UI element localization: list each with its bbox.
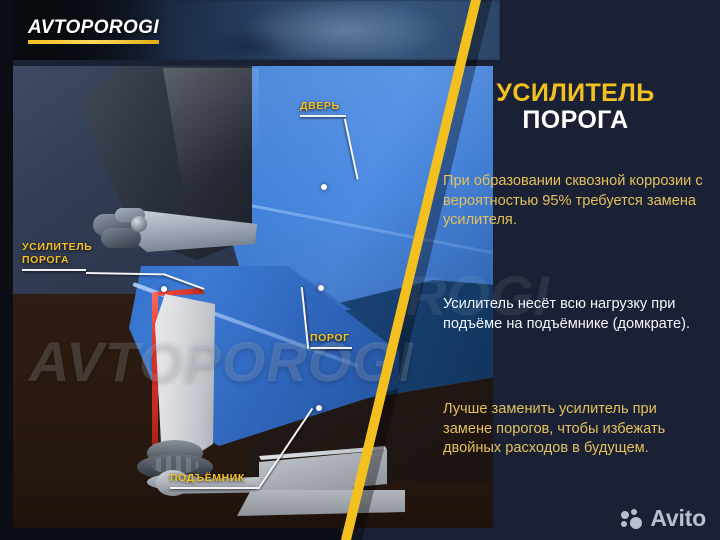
avito-dot-2 xyxy=(631,509,637,515)
panel-paragraph-3: Лучше заменить усилитель при замене поро… xyxy=(443,400,705,459)
frame-left-edge xyxy=(0,0,13,540)
callout-lift-underline xyxy=(170,487,258,489)
brand-logo-text: AVTOPOROGI xyxy=(28,18,159,37)
callout-sill: ПОРОГ xyxy=(310,332,352,349)
callout-sill-label: ПОРОГ xyxy=(310,332,352,344)
hinge-pin xyxy=(131,216,147,232)
callout-reinforcer-label-1: УСИЛИТЕЛЬ xyxy=(22,241,92,253)
brand-logo-underline xyxy=(28,40,159,44)
callout-reinforcer-label-2: ПОРОГА xyxy=(22,254,92,266)
frame-bottom-edge xyxy=(0,528,341,540)
reinforcer-panel xyxy=(155,294,215,462)
callout-door-label: ДВЕРЬ xyxy=(300,100,346,112)
callout-reinforcer-point xyxy=(161,286,167,292)
callout-lift-label: ПОДЪЁМНИК xyxy=(170,472,258,484)
callout-reinforcer-underline xyxy=(22,269,86,271)
callout-sill-point xyxy=(318,285,324,291)
banner-image: AVTOPOROGI xyxy=(0,0,720,540)
avito-dot-3 xyxy=(621,521,627,527)
panel-title-line1: УСИЛИТЕЛЬ xyxy=(448,80,703,107)
panel-title: УСИЛИТЕЛЬ ПОРОГА xyxy=(448,80,703,134)
avito-dots-icon xyxy=(621,509,646,529)
callout-sill-underline xyxy=(310,347,352,349)
callout-lift-point xyxy=(316,405,322,411)
callout-reinforcer: УСИЛИТЕЛЬ ПОРОГА xyxy=(22,241,92,271)
callout-door-underline xyxy=(300,115,346,117)
panel-title-line2: ПОРОГА xyxy=(448,107,703,134)
panel-paragraph-2: Усилитель несёт всю нагрузку при подъёме… xyxy=(443,295,705,334)
callout-lift: ПОДЪЁМНИК xyxy=(170,472,258,489)
avito-wordmark: Avito xyxy=(650,507,706,530)
panel-paragraph-1: При образовании сквозной коррозии с веро… xyxy=(443,172,705,231)
callout-door-point xyxy=(321,184,327,190)
avito-logo: Avito xyxy=(621,507,706,530)
door-hinge-assembly xyxy=(91,204,157,256)
avito-dot-1 xyxy=(621,511,629,519)
callout-door: ДВЕРЬ xyxy=(300,100,346,117)
avito-dot-4 xyxy=(630,517,642,529)
brand-logo: AVTOPOROGI xyxy=(28,18,159,44)
